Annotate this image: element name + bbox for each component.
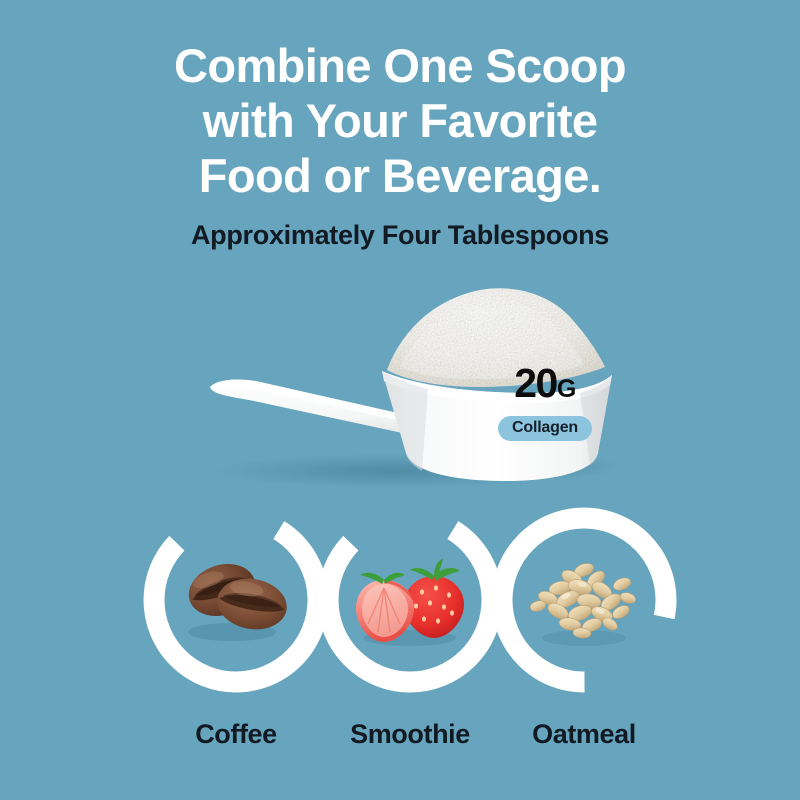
options-ring-row <box>130 500 690 700</box>
option-captions: Coffee Smoothie Oatmeal <box>130 718 690 762</box>
headline-line-2: with Your Favorite <box>0 93 800 148</box>
option-ring-coffee[interactable] <box>136 500 336 700</box>
option-ring-smoothie[interactable] <box>310 500 510 700</box>
caption-oatmeal: Oatmeal <box>484 718 684 750</box>
headline-line-3: Food or Beverage. <box>0 148 800 203</box>
headline-line-1: Combine One Scoop <box>0 38 800 93</box>
option-ring-oatmeal[interactable] <box>484 500 684 700</box>
coffee-beans-icon <box>174 546 298 654</box>
rolled-oats-icon <box>522 546 646 654</box>
subtitle: Approximately Four Tablespoons <box>0 220 800 251</box>
caption-coffee: Coffee <box>136 718 336 750</box>
strawberries-icon <box>348 546 472 654</box>
scoop-illustration: 20G Collagen <box>150 275 650 495</box>
page-title: Combine One Scoop with Your Favorite Foo… <box>0 38 800 203</box>
caption-smoothie: Smoothie <box>310 718 510 750</box>
promo-graphic: Combine One Scoop with Your Favorite Foo… <box>0 0 800 800</box>
scoop-icon <box>150 275 650 495</box>
